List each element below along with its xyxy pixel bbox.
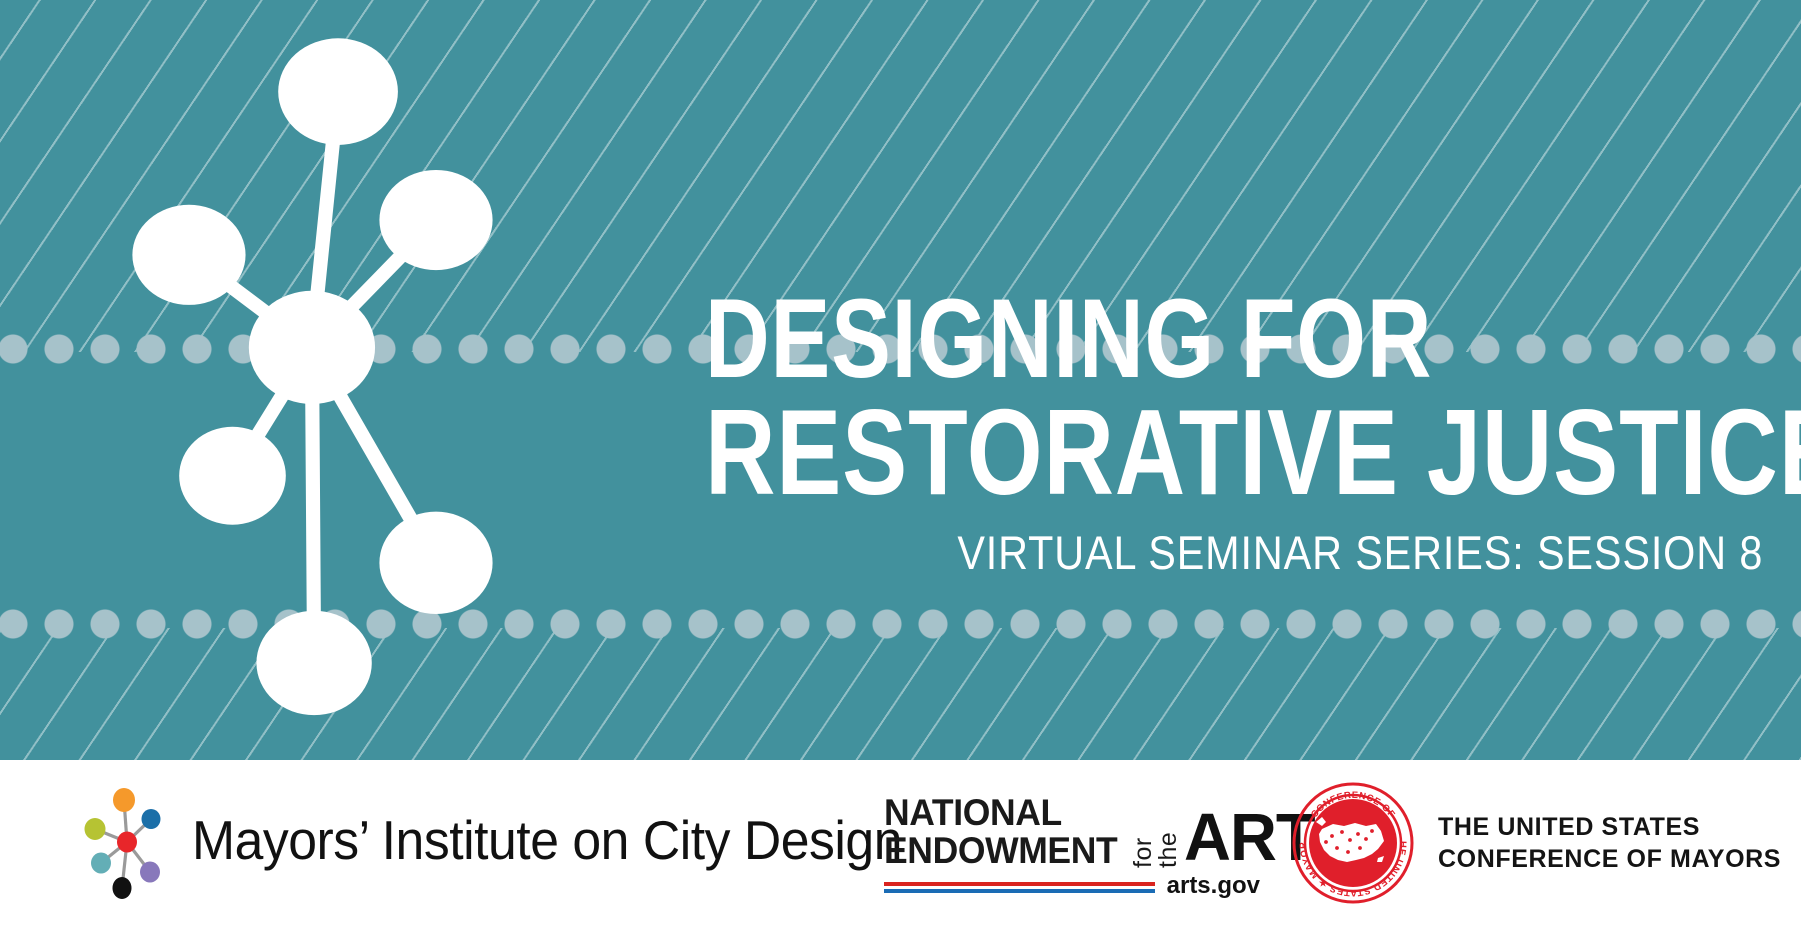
title-line-1: DESIGNING FOR (705, 285, 1553, 393)
micd-dot-teal (91, 853, 111, 874)
nea-rule-row: arts.gov (884, 879, 1260, 893)
node-hub (249, 291, 375, 404)
micd-dot-red (117, 832, 137, 853)
uscm-seal-icon: CONFERENCE OF THE UNITED STATES ★ MAYORS (1292, 782, 1414, 904)
subtitle: VIRTUAL SEMINAR SERIES: SESSION 8 (832, 525, 1765, 581)
node-lower-left (179, 427, 286, 525)
node-top (278, 38, 398, 145)
nea-line-2: ENDOWMENT (884, 832, 1117, 870)
nea-logo: NATIONAL ENDOWMENT for the ARTS arts.gov (884, 794, 1260, 893)
micd-dot-black (113, 877, 132, 899)
uscm-line-1: THE UNITED STATES (1438, 811, 1781, 843)
network-nodes (132, 38, 492, 715)
nea-rule-blue (884, 889, 1155, 893)
node-bottom (256, 611, 371, 715)
title-block: DESIGNING FOR RESTORATIVE JUSTICE VIRTUA… (705, 285, 1765, 581)
node-lower-right (379, 512, 492, 614)
micd-dot-blue (142, 809, 161, 829)
node-left (132, 205, 245, 305)
banner: DESIGNING FOR RESTORATIVE JUSTICE VIRTUA… (0, 0, 1801, 760)
nea-wordmark: NATIONAL ENDOWMENT (884, 794, 1117, 870)
micd-dot-purple (140, 862, 160, 883)
micd-dot-orange (113, 788, 135, 812)
micd-dot-olive (85, 818, 106, 840)
micd-logo: Mayors’ Institute on City Design (78, 778, 947, 902)
nea-url: arts.gov (1167, 879, 1260, 893)
nea-rule-red (884, 882, 1155, 886)
title-line-2: RESTORATIVE JUSTICE (705, 393, 1553, 511)
node-upper-right (379, 170, 492, 270)
uscm-wordmark: THE UNITED STATES CONFERENCE OF MAYORS (1438, 811, 1781, 875)
uscm-line-2: CONFERENCE OF MAYORS (1438, 843, 1781, 875)
nea-line-1: NATIONAL (884, 794, 1117, 832)
nea-top-row: NATIONAL ENDOWMENT for the ARTS (884, 794, 1260, 870)
poster-canvas: DESIGNING FOR RESTORATIVE JUSTICE VIRTUA… (0, 0, 1801, 949)
footer-logo-bar: Mayors’ Institute on City Design NATIONA… (0, 760, 1801, 949)
nea-for-the-rotated: for the (1131, 796, 1181, 868)
network-node-diagram (10, 10, 640, 750)
nea-rules (884, 882, 1155, 893)
micd-wordmark: Mayors’ Institute on City Design (192, 808, 902, 872)
micd-dots (85, 788, 161, 899)
uscm-logo: CONFERENCE OF THE UNITED STATES ★ MAYORS (1292, 782, 1781, 904)
micd-network-mark (78, 778, 182, 902)
